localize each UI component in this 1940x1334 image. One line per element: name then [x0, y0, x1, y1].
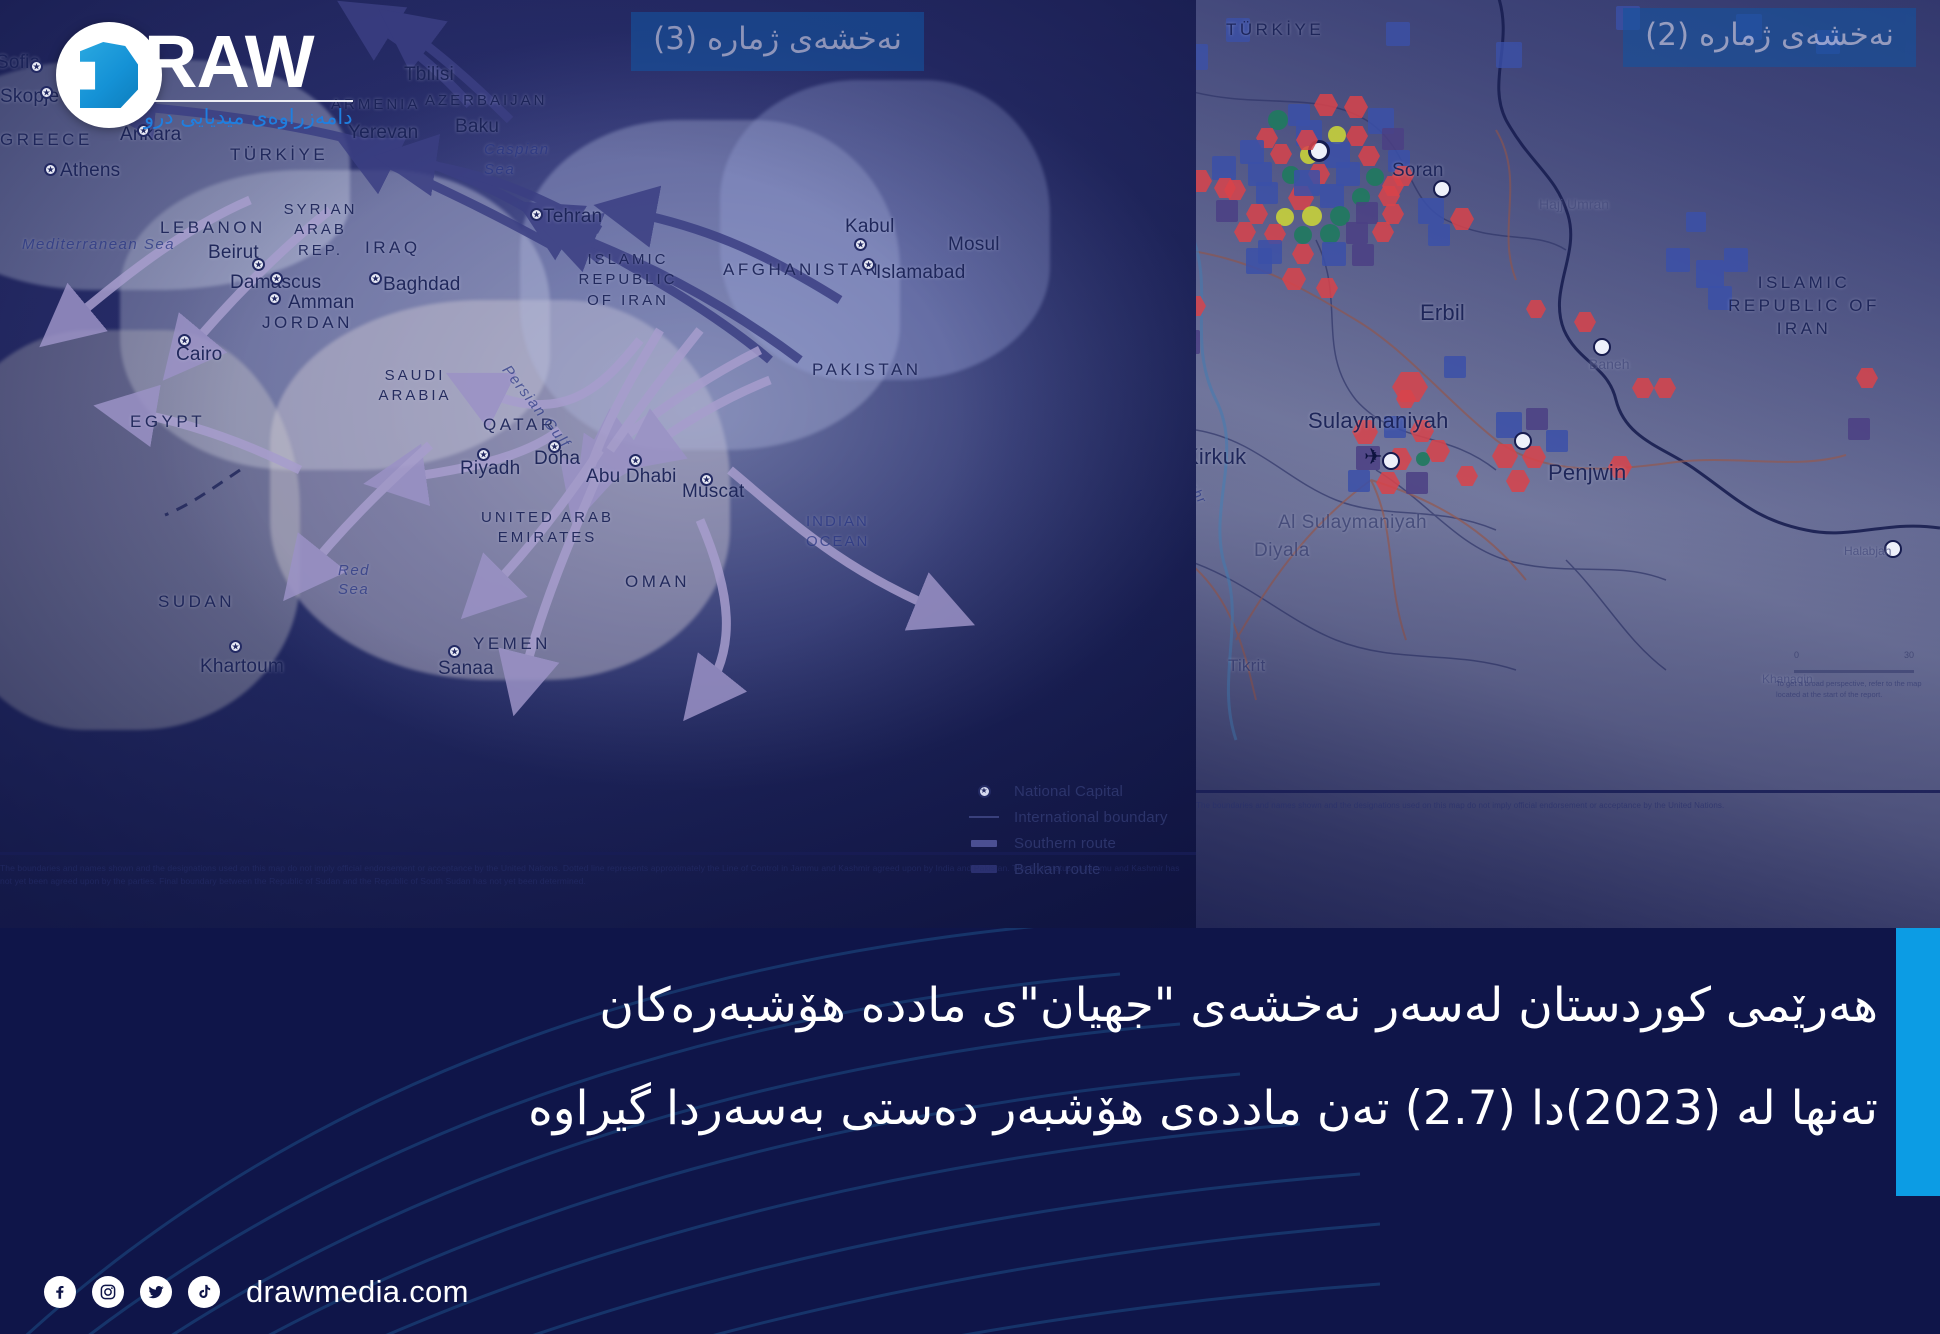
logo-word: RAW — [144, 28, 353, 96]
map-label-city: Erbil — [1420, 300, 1465, 326]
legend-item: National Capital — [968, 778, 1196, 804]
map-number-tag-3: نەخشەی ژماره (3) — [631, 12, 924, 71]
scale-max: 30 — [1904, 650, 1914, 660]
incident-marker — [1196, 330, 1200, 354]
legend-item: International boundary — [968, 804, 1196, 830]
headline-line-1: هەرێمی کوردستان لەسەر نەخشەی "جهیان"ی ما… — [90, 978, 1878, 1033]
airport-icon: ✈ — [1364, 446, 1382, 468]
map-label-city: Baneh — [1589, 356, 1629, 372]
incident-marker — [1196, 44, 1208, 70]
capital-marker — [40, 86, 53, 99]
capital-marker — [448, 645, 461, 658]
capital-marker — [629, 454, 642, 467]
map-label-country: ISLAMIC REPUBLIC OF IRAN — [1704, 272, 1904, 341]
map-label-country: PAKISTAN — [812, 360, 922, 380]
southern-route-swatch-icon — [968, 840, 1000, 847]
map-panel-kurdistan: ✈ — [1196, 0, 1940, 928]
map-label-city: Tehran — [543, 206, 602, 228]
city-point-hajj-umran — [1433, 180, 1451, 198]
website-url[interactable]: drawmedia.com — [246, 1274, 469, 1310]
legend-label: International boundary — [1014, 809, 1168, 826]
map-label-city: Beirut — [208, 242, 259, 264]
map-label-city: Kabul — [845, 216, 895, 238]
capital-marker — [229, 640, 242, 653]
incident-marker — [1686, 212, 1706, 232]
map-label-city: Halabjah — [1844, 544, 1891, 558]
map-label-city: Sanaa — [438, 658, 494, 680]
map-label-sea: Caspian Sea — [484, 140, 544, 179]
divider-rule — [0, 852, 1196, 855]
map-label-country: YEMEN — [473, 634, 551, 654]
map-label-city: Soran — [1392, 160, 1444, 182]
map-label-governorate: Al Sulaymaniyah — [1278, 512, 1427, 534]
map-label-city: Baghdad — [383, 274, 460, 296]
map-label-country: AZERBAIJAN — [425, 92, 548, 109]
map-label-country: TÜRKİYE — [230, 145, 328, 165]
map-label-city: Penjwin — [1548, 460, 1626, 486]
map-label-country: IRAQ — [365, 238, 421, 258]
map-label-country: JORDAN — [262, 313, 353, 333]
map-label-city: Tbilisi — [404, 64, 454, 86]
map-label-country: ISLAMIC REPUBLIC OF IRAN — [567, 250, 689, 311]
map-label-city: Abu Dhabi — [586, 466, 677, 488]
map-label-country: SYRIAN ARAB REP. — [268, 200, 373, 261]
legend-label: National Capital — [1014, 783, 1123, 800]
un-disclaimer-left: The boundaries and names shown and the d… — [0, 862, 1190, 888]
capital-marker — [548, 440, 561, 453]
capital-marker — [477, 448, 490, 461]
map-scale-note: To get a broad perspective, refer to the… — [1776, 678, 1926, 701]
logo-subtitle: دامەزراوەی میدیایی درو — [144, 100, 353, 129]
incident-marker — [1246, 248, 1272, 274]
map-label-city: Khartoum — [200, 656, 284, 678]
poster-root: GREECE TÜRKİYE LEBANON SYRIAN ARAB REP. … — [0, 0, 1940, 1334]
legend-label: Southern route — [1014, 835, 1116, 852]
map-label-city: Kirkuk — [1196, 444, 1246, 470]
map-label-city: Sulaymaniyah — [1308, 408, 1449, 434]
map-label-city: Mosul — [948, 234, 1000, 256]
map-label-country: OMAN — [625, 572, 690, 592]
incident-marker — [1444, 356, 1466, 378]
capital-marker — [700, 473, 713, 486]
map-label-city: Hajj Umran — [1539, 196, 1609, 212]
map-label-country: TÜRKİYE — [1226, 20, 1324, 40]
map-label-city: Muscat — [682, 481, 744, 503]
tiktok-icon[interactable] — [188, 1276, 220, 1308]
capital-marker — [30, 60, 43, 73]
incident-marker — [1294, 170, 1320, 196]
map-label-country: EGYPT — [130, 412, 205, 432]
map-label-sea: Mediterranean Sea — [22, 236, 175, 253]
capital-marker — [854, 238, 867, 251]
incident-marker — [1386, 22, 1410, 46]
map-label-city: Cairo — [176, 344, 222, 366]
capital-marker — [369, 272, 382, 285]
map-label-sea: INDIAN OCEAN — [806, 512, 886, 551]
map-label-country: LEBANON — [160, 218, 266, 238]
map-number-tag-2: نەخشەی ژماره (2) — [1623, 8, 1916, 67]
maps-area: GREECE TÜRKİYE LEBANON SYRIAN ARAB REP. … — [0, 0, 1940, 928]
un-disclaimer-right: The boundaries and names shown and the d… — [1196, 800, 1936, 812]
map-label-city: Tikrit — [1228, 656, 1265, 676]
city-point-penjwin — [1514, 432, 1532, 450]
instagram-icon[interactable] — [92, 1276, 124, 1308]
map-label-sea: Red Sea — [338, 562, 376, 600]
map-scale-bar: 0 30 — [1794, 650, 1914, 673]
map-panel-world-routes: GREECE TÜRKİYE LEBANON SYRIAN ARAB REP. … — [0, 0, 1196, 928]
capital-marker — [530, 208, 543, 221]
city-point-sulaymaniyah — [1382, 452, 1400, 470]
scale-min: 0 — [1794, 650, 1799, 660]
incident-marker — [1496, 42, 1522, 68]
map-label-city: Baku — [455, 116, 499, 138]
map-label-city: Yerevan — [348, 122, 418, 144]
map-label-country: AFGHANISTAN — [723, 260, 881, 280]
capital-marker — [270, 272, 283, 285]
capital-star-icon — [968, 785, 1000, 798]
incident-marker — [1666, 248, 1690, 272]
logo-wordmark: RAW دامەزراوەی میدیایی درو — [144, 28, 353, 129]
capital-marker — [44, 163, 57, 176]
capital-marker — [268, 292, 281, 305]
map-label-country: UNITED ARAB EMIRATES — [455, 508, 640, 549]
incident-marker — [1724, 248, 1748, 272]
incident-marker — [1848, 418, 1870, 440]
boundary-line-icon — [968, 816, 1000, 818]
draw-media-logo[interactable]: RAW دامەزراوەی میدیایی درو — [56, 22, 353, 129]
headline-block: هەرێمی کوردستان لەسەر نەخشەی "جهیان"ی ما… — [0, 978, 1940, 1137]
map-label-governorate: Diyala — [1254, 540, 1310, 562]
incident-marker — [1418, 198, 1444, 224]
map-label-city: Riyadh — [460, 458, 520, 480]
social-bar: drawmedia.com — [44, 1274, 469, 1310]
headline-line-2: تەنها لە (2023)دا (2.7) تەن ماددەی هۆشبە… — [90, 1081, 1878, 1136]
incident-marker — [1428, 224, 1450, 246]
facebook-icon[interactable] — [44, 1276, 76, 1308]
capital-marker — [178, 334, 191, 347]
divider-rule — [1196, 790, 1940, 793]
capital-marker — [862, 258, 875, 271]
map-label-country: SUDAN — [158, 592, 235, 612]
headline-area: هەرێمی کوردستان لەسەر نەخشەی "جهیان"ی ما… — [0, 928, 1940, 1334]
map-label-city: Islamabad — [876, 262, 965, 284]
map-label-country: GREECE — [0, 130, 93, 150]
map-label-city: Amman — [288, 292, 354, 314]
city-point-baneh — [1593, 338, 1611, 356]
twitter-icon[interactable] — [140, 1276, 172, 1308]
map-label-country: SAUDI ARABIA — [360, 366, 470, 407]
capital-marker — [252, 258, 265, 271]
map-label-city: Athens — [60, 160, 120, 182]
